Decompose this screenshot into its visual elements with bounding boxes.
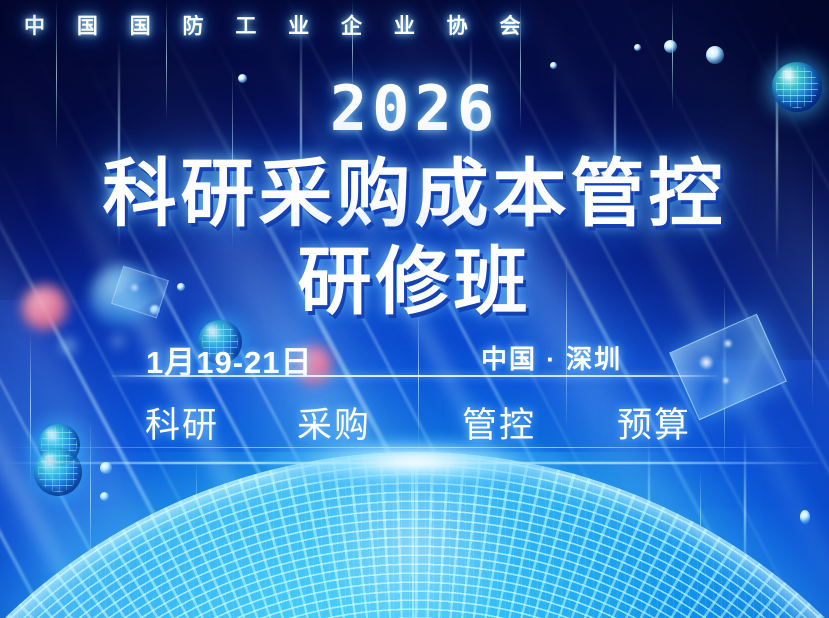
keyword-item: 科研 [145,397,219,448]
keyword-item: 管控 [462,397,536,448]
title-line-2: 研修班 [0,222,829,329]
event-poster: 中 国 国 防 工 业 企 业 协 会 2026 科研采购成本管控 研修班 1月… [0,0,829,618]
keyword-item: 采购 [297,397,371,448]
poster-content: 中 国 国 防 工 业 企 业 协 会 2026 科研采购成本管控 研修班 1月… [0,0,829,618]
keyword-row: 科研 采购 管控 预算 [0,397,829,445]
organization-name: 中 国 国 防 工 业 企 业 协 会 [24,10,534,40]
keyword-item: 预算 [617,397,691,448]
event-meta: 1月19-21日 中国 · 深圳 [0,337,829,379]
meta-divider [112,375,717,377]
event-location: 中国 · 深圳 [481,339,622,376]
